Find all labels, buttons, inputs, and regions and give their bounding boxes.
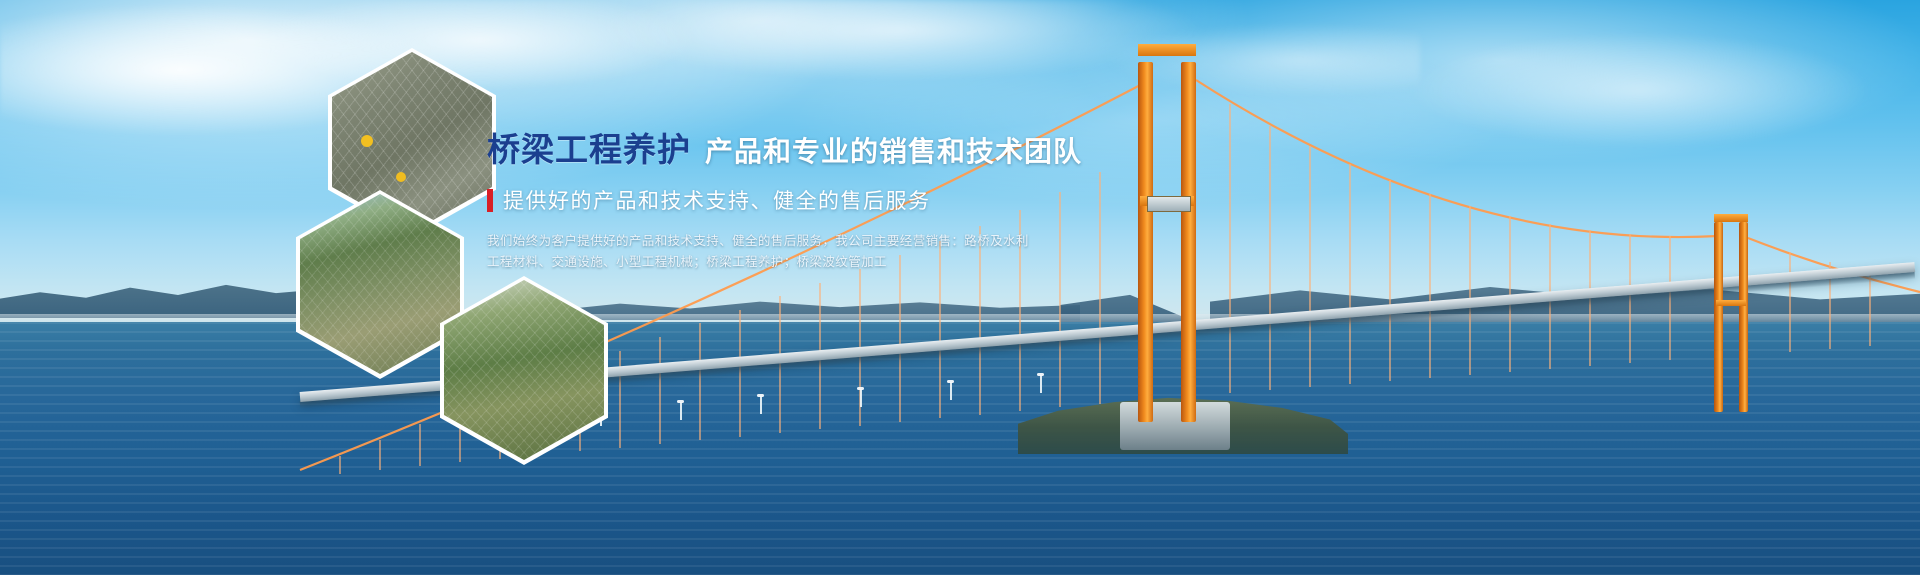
- tower-left-crossbeam-top: [1138, 44, 1196, 56]
- headline-secondary: 产品和专业的销售和技术团队: [705, 130, 1082, 170]
- tower-plaque: [1147, 196, 1191, 212]
- tower-right-leg-b: [1739, 222, 1748, 412]
- deck-lamp-head: [677, 400, 684, 403]
- tower-right-crossbeam-top: [1714, 214, 1748, 222]
- subheadline: 提供好的产品和技术支持、健全的售后服务: [503, 185, 931, 215]
- headline-row: 桥梁工程养护 产品和专业的销售和技术团队: [487, 123, 1027, 171]
- deck-lamp-head: [857, 387, 864, 390]
- subheadline-row: 提供好的产品和技术支持、健全的售后服务: [487, 185, 1027, 215]
- deck-lamp: [950, 382, 952, 400]
- tower-left-leg-b: [1181, 62, 1196, 422]
- deck-lamp: [860, 389, 862, 407]
- description-paragraph: 我们始终为客户提供好的产品和技术支持、健全的售后服务，我公司主要经营销售：路桥及…: [487, 231, 1027, 273]
- headline-primary: 桥梁工程养护: [487, 123, 691, 171]
- bridge-tower-right: [1714, 222, 1748, 412]
- tower-right-leg-a: [1714, 222, 1723, 412]
- red-accent-bar: [487, 189, 493, 212]
- deck-lamp: [1040, 375, 1042, 393]
- hero-banner: 桥梁工程养护 产品和专业的销售和技术团队 提供好的产品和技术支持、健全的售后服务…: [0, 0, 1920, 575]
- deck-lamp-head: [947, 380, 954, 383]
- deck-lamp-head: [757, 394, 764, 397]
- tower-right-crossbeam-mid: [1716, 300, 1746, 306]
- banner-text-block: 桥梁工程养护 产品和专业的销售和技术团队 提供好的产品和技术支持、健全的售后服务…: [487, 123, 1027, 273]
- tower-left-leg-a: [1138, 62, 1153, 422]
- deck-lamp: [680, 402, 682, 420]
- bridge-tower-left: [1138, 62, 1196, 422]
- suspension-bridge: [0, 0, 1920, 575]
- deck-lamp-head: [1037, 373, 1044, 376]
- deck-lamp: [760, 396, 762, 414]
- description-line-1: 我们始终为客户提供好的产品和技术支持、健全的售后服务，我公司主要经营销售：路桥及…: [487, 231, 1027, 252]
- description-line-2: 工程材料、交通设施、小型工程机械；桥梁工程养护；桥梁波纹管加工: [487, 252, 1027, 273]
